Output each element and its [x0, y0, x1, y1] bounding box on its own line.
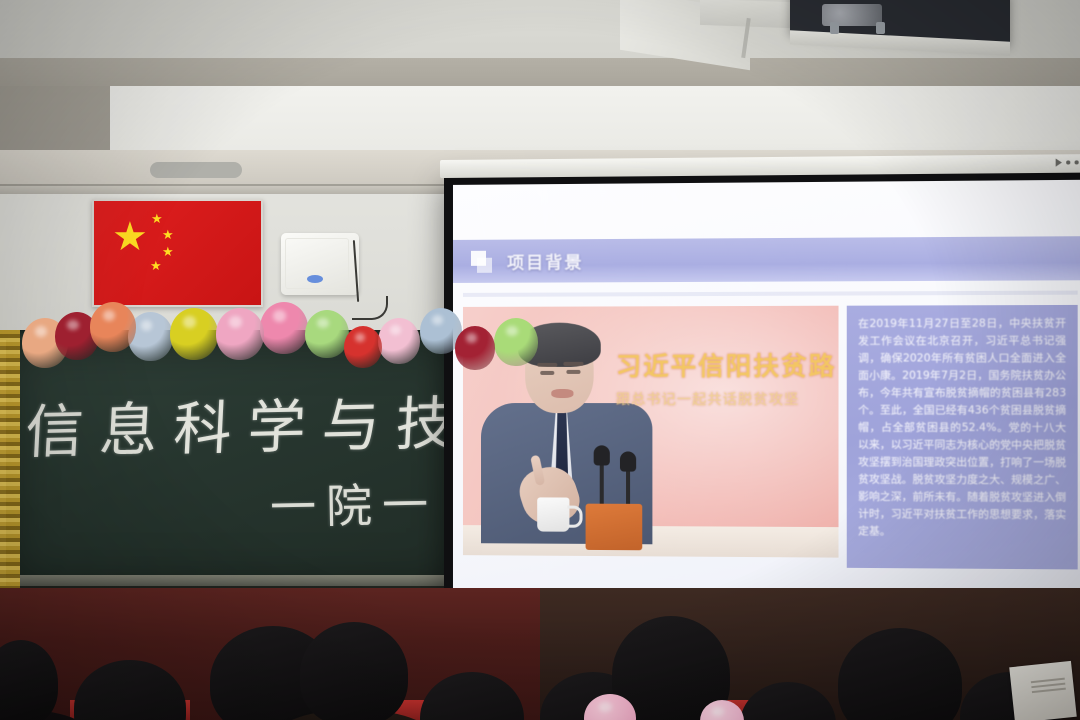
balloon [344, 326, 382, 368]
projector-knob-icon [830, 22, 839, 34]
play-indicator-icon [1056, 158, 1062, 166]
handout-paper [1009, 661, 1077, 720]
document-icon [471, 250, 493, 272]
slide-header-bar: 项目背景 [453, 236, 1080, 283]
paper-text-lines [1031, 678, 1066, 696]
balloon [170, 308, 218, 360]
slide-divider [463, 291, 1078, 297]
flag-small-star-icon: ★ [162, 245, 174, 258]
microphone-head [594, 445, 610, 465]
balloon [494, 318, 538, 366]
flag-small-star-icon: ★ [151, 212, 163, 225]
flag-large-star-icon: ★ [112, 217, 148, 257]
slide-textbox: 在2019年11月27日至28日，中央扶贫开发工作会议在北京召开，习近平总书记强… [847, 305, 1078, 570]
projector-knob-icon [876, 22, 885, 34]
ceiling-vent-slot [150, 162, 242, 178]
tea-cup-handle [567, 506, 582, 528]
photo-subheadline: 跟总书记一起共话脱贫攻坚 [616, 389, 800, 409]
china-flag: ★ ★ ★ ★ ★ [92, 199, 263, 307]
photo-figure-eye [566, 370, 580, 374]
presentation-slide: 项目背景 [453, 180, 1080, 598]
ceiling-beam-band [0, 58, 1080, 88]
audience-member-head [300, 622, 408, 720]
photo-figure-brow [563, 362, 583, 366]
photo-figure-mouth [551, 389, 573, 398]
projection-screen[interactable]: 项目背景 [444, 170, 1080, 607]
balloon [305, 310, 349, 358]
blackboard-tinsel-decoration [0, 330, 20, 598]
speaker-logo-icon [307, 275, 323, 283]
slide-body-text: 在2019年11月27日至28日，中央扶贫开发工作会议在北京召开，习近平总书记强… [858, 315, 1066, 541]
wall-speaker [281, 233, 359, 295]
slide-header-title: 项目背景 [507, 248, 583, 273]
screen-indicator-icons [1056, 158, 1080, 166]
indicator-dot-icon [1075, 160, 1079, 164]
tea-cup [537, 497, 569, 531]
flag-small-star-icon: ★ [150, 259, 162, 272]
flag-small-star-icon: ★ [162, 228, 174, 241]
blackboard-title-line2: 一院一 [269, 469, 438, 538]
balloon [90, 302, 136, 352]
balloon [260, 302, 308, 354]
podium-nameplate [586, 504, 643, 551]
microphone-head [620, 451, 636, 471]
photo-figure-brow [537, 363, 557, 367]
lecture-hall-photo: ★ ★ ★ ★ ★ 信息科学与技术 一院一 项目背景 [0, 0, 1080, 720]
photo-figure-eye [540, 371, 554, 375]
photo-headline: 习近平信阳扶贫路 [616, 346, 837, 383]
balloon [216, 308, 264, 360]
indicator-dot-icon [1066, 160, 1070, 164]
balloon [455, 326, 495, 370]
balloon [378, 318, 420, 364]
